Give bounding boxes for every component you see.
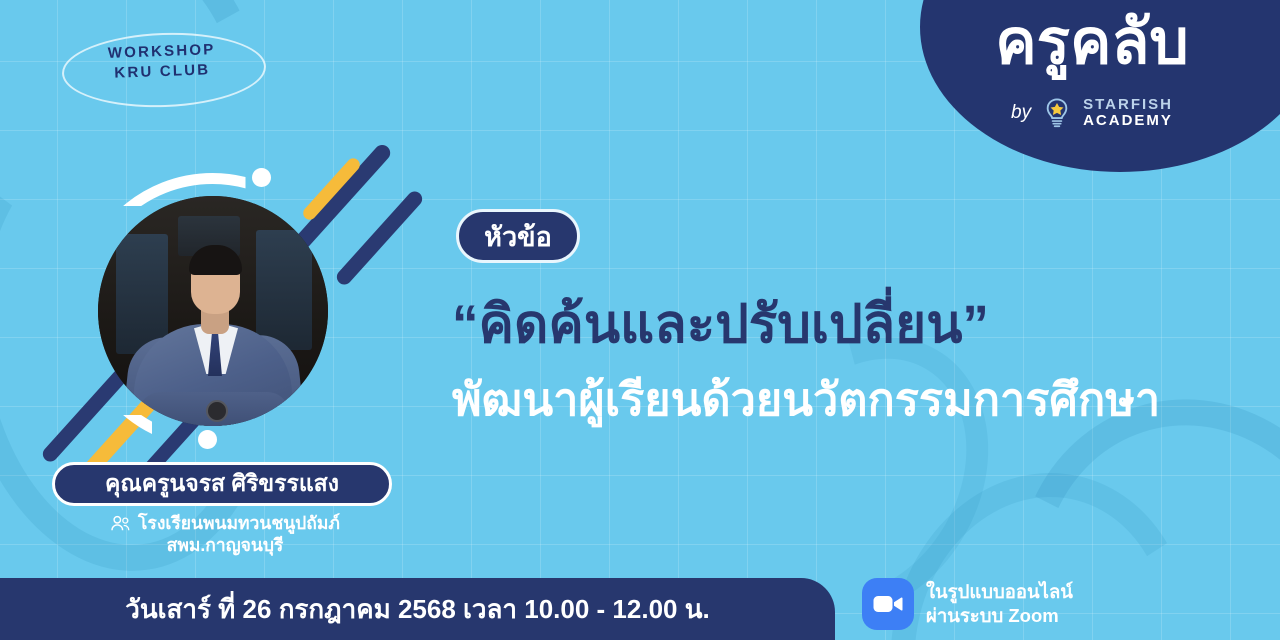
platform-info: ในรูปแบบออนไลน์ ผ่านระบบ Zoom: [862, 578, 1073, 630]
platform-line1: ในรูปแบบออนไลน์: [926, 580, 1073, 604]
partner-name-line2: ACADEMY: [1083, 113, 1173, 129]
schedule-datetime: วันเสาร์ ที่ 26 กรกฎาคม 2568 เวลา 10.00 …: [125, 589, 709, 630]
schedule-bar: วันเสาร์ ที่ 26 กรกฎาคม 2568 เวลา 10.00 …: [0, 578, 835, 640]
topic-label: หัวข้อ: [484, 215, 552, 258]
partner-name: STARFISH ACADEMY: [1083, 97, 1173, 129]
platform-line2: ผ่านระบบ Zoom: [926, 604, 1073, 628]
decor-dot-2: [198, 430, 217, 449]
zoom-video-camera-icon: [862, 578, 914, 630]
partner-name-line1: STARFISH: [1083, 97, 1173, 113]
school-name: โรงเรียนพนมทวนชนูปถัมภ์: [138, 512, 340, 534]
title-line-2: พัฒนาผู้เรียนด้วยนวัตกรรมการศึกษา: [452, 375, 1242, 425]
workshop-stamp: WORKSHOP KRU CLUB: [61, 39, 262, 86]
topic-badge: หัวข้อ: [456, 209, 580, 263]
decor-dot-1: [252, 168, 271, 187]
title-line-1: “คิดค้นและปรับเปลี่ยน”: [452, 296, 1132, 353]
event-poster: WORKSHOP KRU CLUB ครูคลับ by STARFISH AC…: [0, 0, 1280, 640]
photo-ring: [75, 173, 350, 448]
brand-byline: by STARFISH ACADEMY: [942, 96, 1242, 130]
speaker-school: โรงเรียนพนมทวนชนูปถัมภ์ สพม.กาญจนบุรี: [40, 512, 410, 557]
people-group-icon: [110, 515, 131, 531]
lightbulb-star-icon: [1040, 96, 1074, 130]
speaker-name-badge: คุณครูนจรส ศิริขรรแสง: [52, 462, 392, 506]
brand-name: ครูคลับ: [942, 12, 1242, 74]
platform-text: ในรูปแบบออนไลน์ ผ่านระบบ Zoom: [926, 580, 1073, 627]
photo-ring-arc: [75, 173, 350, 448]
speaker-name: คุณครูนจรส ศิริขรรแสง: [105, 466, 339, 502]
by-label: by: [1011, 102, 1031, 124]
school-district: สพม.กาญจนบุรี: [40, 534, 410, 556]
